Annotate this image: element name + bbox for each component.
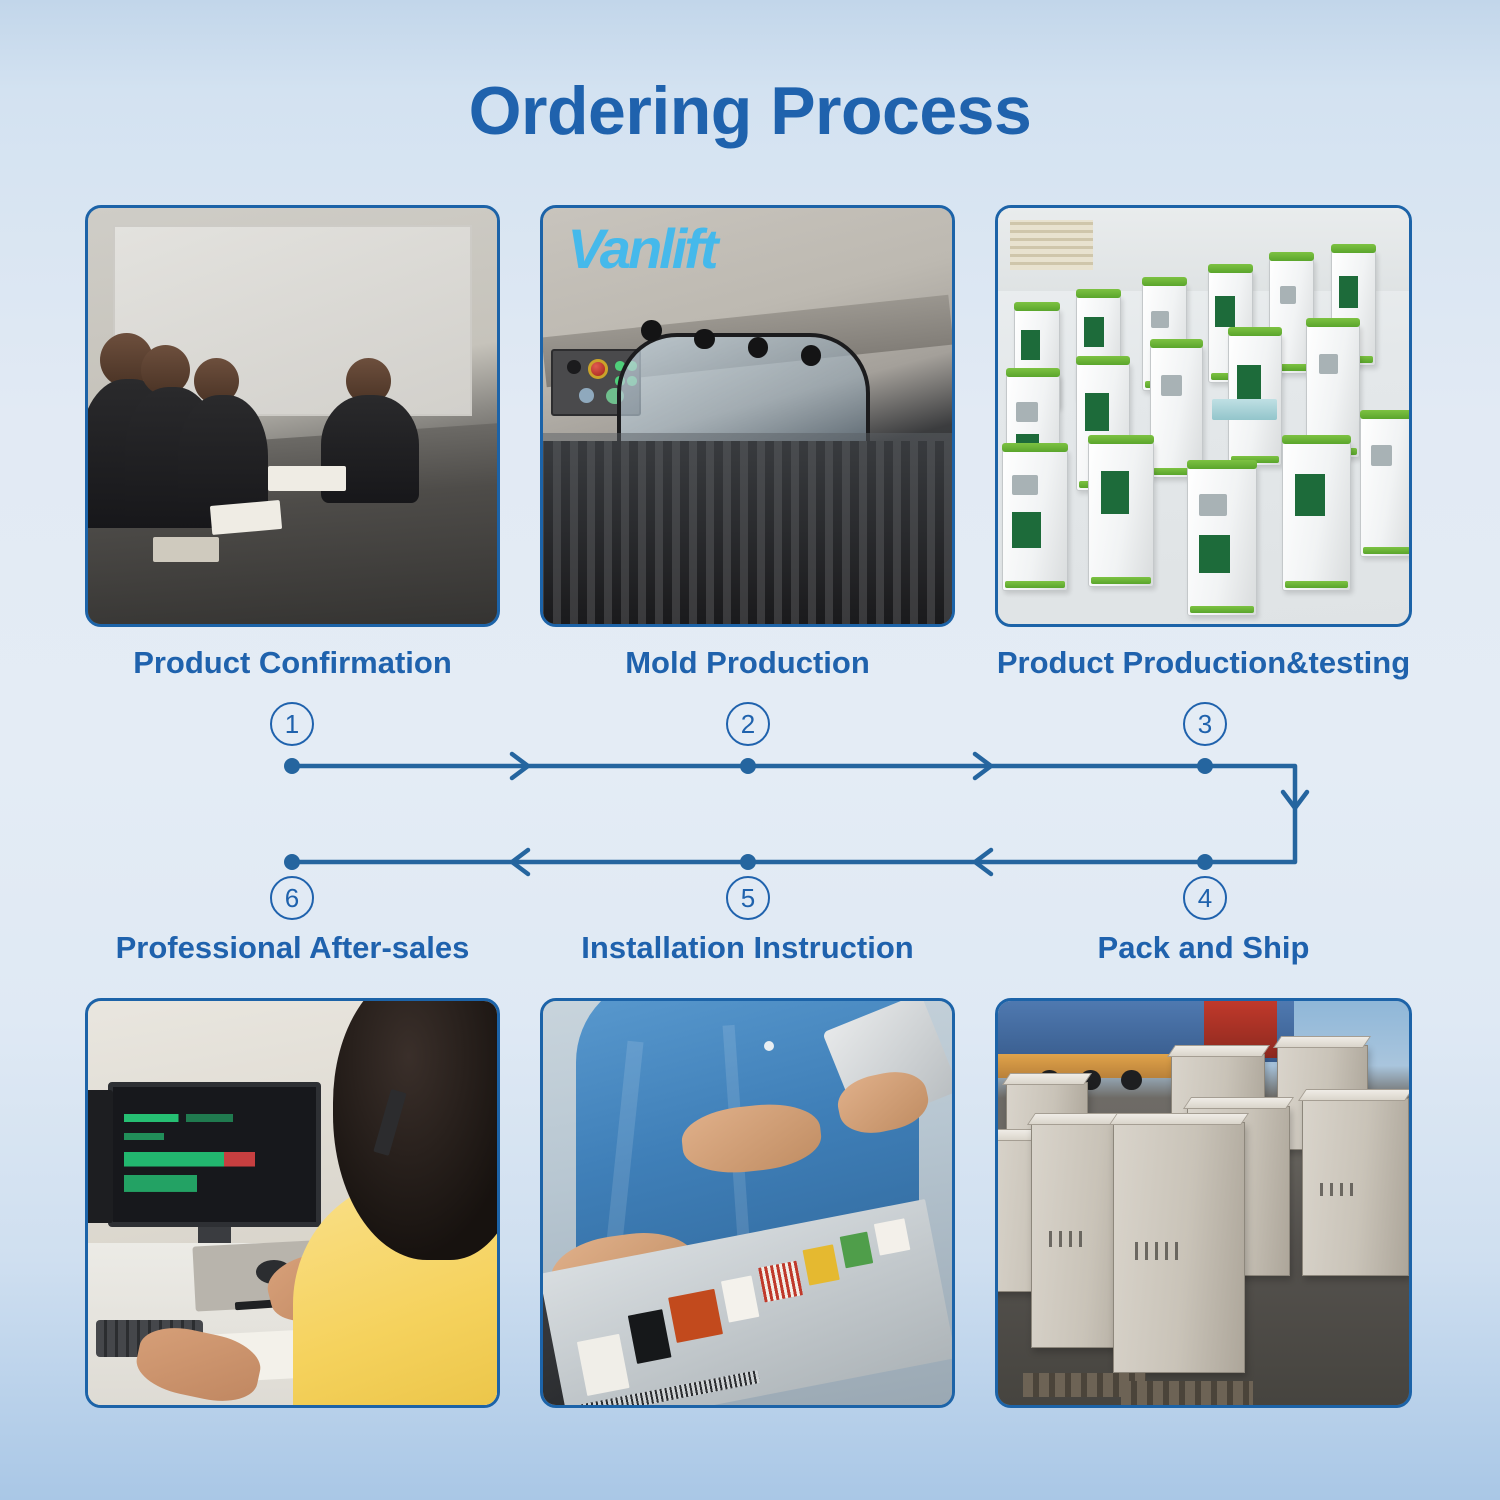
node-dot-3 (1197, 758, 1213, 774)
step-number-6: 6 (270, 876, 314, 920)
technician-installation-image (543, 1001, 952, 1405)
meeting-room-image (88, 208, 497, 624)
truck-wheel (1121, 1070, 1142, 1090)
charger-cabinet (1150, 345, 1203, 478)
pack-and-ship-photo[interactable] (995, 998, 1412, 1408)
professional-after-sales-photo[interactable] (85, 998, 500, 1408)
dashboard-chart-graphic (124, 1094, 306, 1216)
process-flow-diagram: 1 2 3 4 5 6 (0, 690, 1500, 920)
pallet-base (1121, 1381, 1253, 1405)
step-number-1: 1 (270, 702, 314, 746)
monitor-screen (108, 1082, 321, 1227)
clamp-knob (694, 329, 714, 350)
clamp-knob (801, 345, 821, 366)
flow-path (292, 766, 1295, 862)
node-dot-1 (284, 758, 300, 774)
board-component (668, 1290, 723, 1343)
work-bench-shape (1212, 399, 1278, 420)
page-title: Ordering Process (0, 72, 1500, 150)
clamp-knob (748, 337, 768, 358)
board-component (628, 1310, 672, 1364)
flow-nodes (284, 758, 1213, 870)
support-agent-image (88, 1001, 497, 1405)
push-button[interactable] (579, 388, 594, 403)
node-dot-2 (740, 758, 756, 774)
board-component (721, 1276, 760, 1323)
clamp-knob (641, 320, 661, 341)
charger-cabinet (1187, 466, 1257, 616)
mold-production-photo[interactable]: Vanlift (540, 205, 955, 627)
step-label-4: Pack and Ship (995, 930, 1412, 966)
assembly-floor-image (998, 208, 1409, 624)
wooden-crate (1113, 1122, 1245, 1372)
product-confirmation-photo[interactable] (85, 205, 500, 627)
cutting-bed-shadow (543, 433, 952, 624)
product-production-testing-photo[interactable] (995, 205, 1412, 627)
board-component (874, 1218, 911, 1256)
second-monitor (85, 1090, 113, 1223)
board-component (840, 1232, 873, 1269)
node-dot-4 (1197, 854, 1213, 870)
board-component (577, 1334, 630, 1396)
step-label-1: Product Confirmation (85, 645, 500, 681)
step-label-3: Product Production&testing (985, 645, 1422, 681)
step-number-4: 4 (1183, 876, 1227, 920)
laser-cutting-machine-image: Vanlift (543, 208, 952, 624)
knob-icon (567, 360, 581, 374)
step-number-5: 5 (726, 876, 770, 920)
board-component (803, 1245, 841, 1286)
wooden-crate (1302, 1098, 1409, 1276)
document-shape (268, 466, 346, 491)
step-number-3: 3 (1183, 702, 1227, 746)
step-label-2: Mold Production (540, 645, 955, 681)
node-dot-5 (740, 854, 756, 870)
board-component (758, 1260, 803, 1302)
stacked-boxes-shape (1010, 220, 1092, 270)
emergency-stop-button[interactable] (588, 359, 609, 379)
shipping-crates-image (998, 1001, 1409, 1405)
node-dot-6 (284, 854, 300, 870)
charger-cabinet (1282, 441, 1352, 591)
step-label-6: Professional After-sales (85, 930, 500, 966)
installation-instruction-photo[interactable] (540, 998, 955, 1408)
charger-cabinet (1360, 416, 1412, 557)
step-number-2: 2 (726, 702, 770, 746)
step-label-5: Installation Instruction (540, 930, 955, 966)
machine-brand-logo: Vanlift (568, 216, 716, 281)
charger-cabinet (1088, 441, 1154, 587)
charger-cabinet (1002, 449, 1068, 590)
document-shape (153, 537, 218, 562)
